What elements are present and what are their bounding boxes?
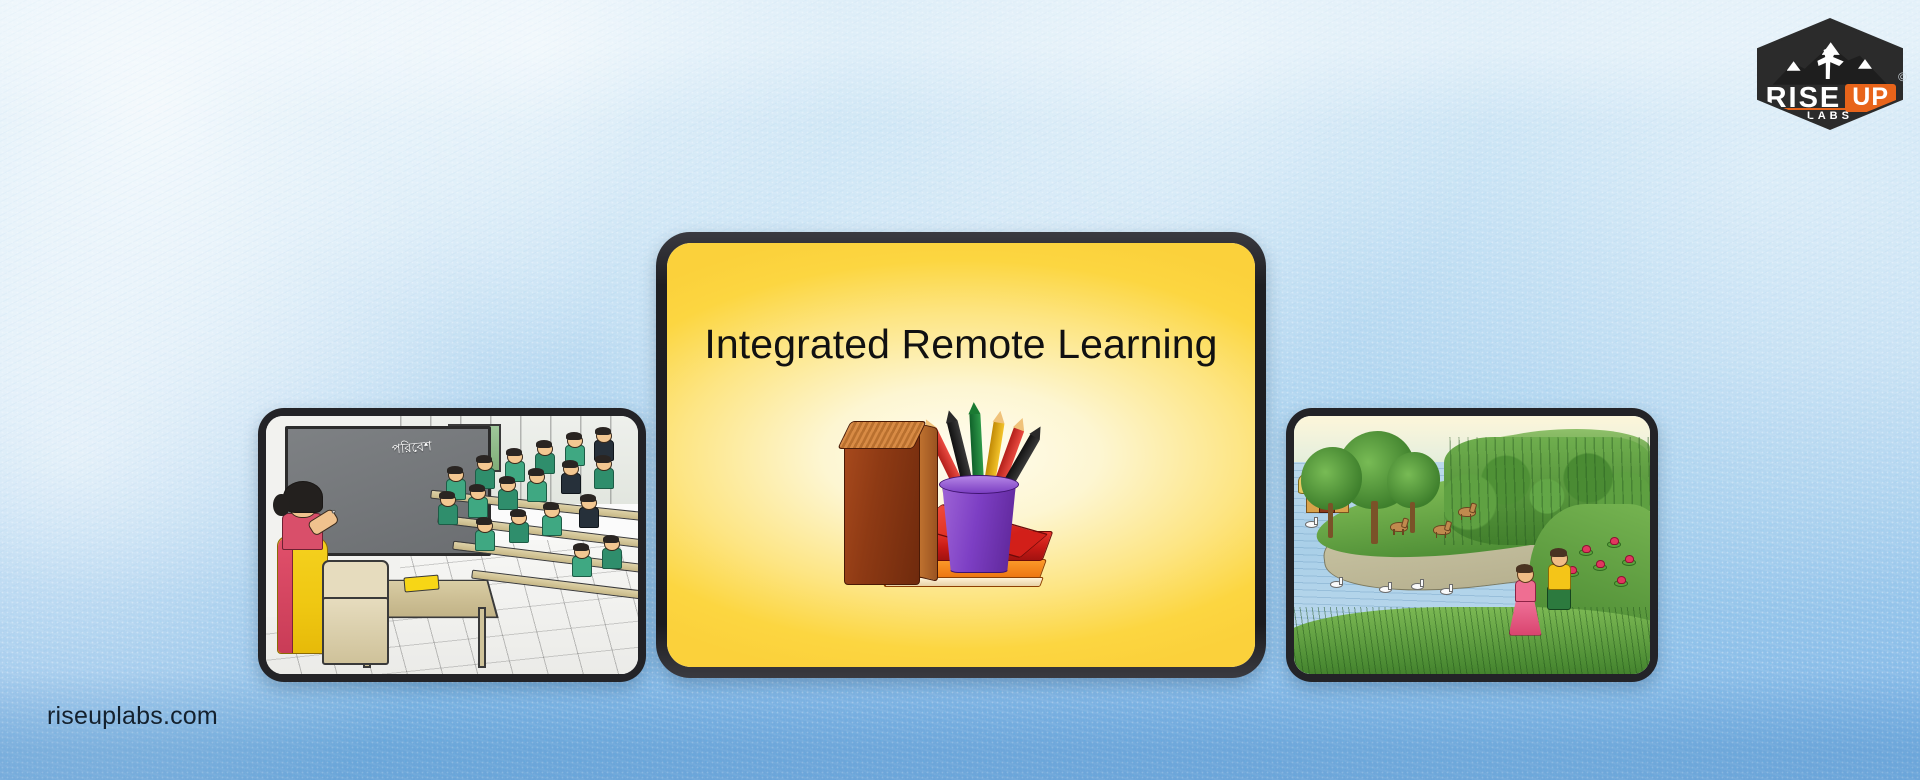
egret <box>1440 586 1454 594</box>
nature-illustration <box>1294 416 1650 674</box>
water-lily <box>1607 537 1619 546</box>
pencil-green <box>969 413 984 483</box>
egret <box>1379 584 1393 592</box>
teacher-saree <box>277 536 328 654</box>
page-title: Integrated Remote Learning <box>667 321 1255 368</box>
student <box>526 470 546 500</box>
chair-seat <box>322 597 389 666</box>
tree <box>1387 452 1440 529</box>
student <box>508 511 528 541</box>
classroom-screen: পরিবেশ <box>266 416 638 674</box>
chalkboard-text: পরিবেশ <box>391 438 433 462</box>
student <box>437 493 457 523</box>
book-on-desk <box>403 574 440 592</box>
desk-leg <box>478 607 486 668</box>
student <box>571 545 591 575</box>
student <box>474 457 494 487</box>
nature-screen <box>1294 416 1650 674</box>
pencil-bundle <box>948 421 1010 483</box>
water-lily <box>1622 555 1634 564</box>
egret <box>1411 581 1425 589</box>
copyright-icon: © <box>1898 70 1907 84</box>
center-screen: Integrated Remote Learning <box>667 243 1255 667</box>
logo-wordmark: RISE UP <box>1766 87 1895 110</box>
foreground-grass <box>1294 607 1650 674</box>
student <box>467 486 487 516</box>
water-lily <box>1579 545 1591 554</box>
pencil-cup-rim <box>939 475 1019 494</box>
water-lily <box>1593 560 1605 569</box>
student <box>474 519 494 549</box>
teacher-hair-bun <box>273 494 289 517</box>
deer <box>1433 522 1453 537</box>
brown-book <box>844 433 920 585</box>
student <box>497 478 517 508</box>
student <box>541 504 561 534</box>
logo-badge-inner: RISE UP LABS <box>1760 21 1900 127</box>
nature-tablet[interactable] <box>1286 408 1658 682</box>
rise-up-labs-logo[interactable]: RISE UP LABS © <box>1757 18 1903 130</box>
deer <box>1390 519 1410 534</box>
classroom-illustration: পরিবেশ <box>266 416 638 674</box>
school-supplies-illustration <box>836 411 1086 621</box>
water-lily <box>1614 576 1626 585</box>
site-watermark: riseuplabs.com <box>47 702 218 731</box>
logo-text-labs: LABS <box>1760 110 1900 122</box>
pencil-cup <box>942 483 1016 573</box>
brown-book-pages <box>837 421 927 449</box>
egret <box>1330 579 1344 587</box>
classroom-tablet[interactable]: পরিবেশ <box>258 408 646 682</box>
student <box>560 462 580 492</box>
student <box>578 496 598 526</box>
deer <box>1458 504 1478 519</box>
student <box>593 457 613 487</box>
center-tablet[interactable]: Integrated Remote Learning <box>656 232 1266 678</box>
poster-canvas: পরিবেশ <box>0 0 1920 780</box>
boy-figure <box>1543 550 1573 614</box>
student <box>601 537 621 567</box>
girl-figure <box>1508 566 1540 636</box>
egret <box>1305 519 1319 527</box>
